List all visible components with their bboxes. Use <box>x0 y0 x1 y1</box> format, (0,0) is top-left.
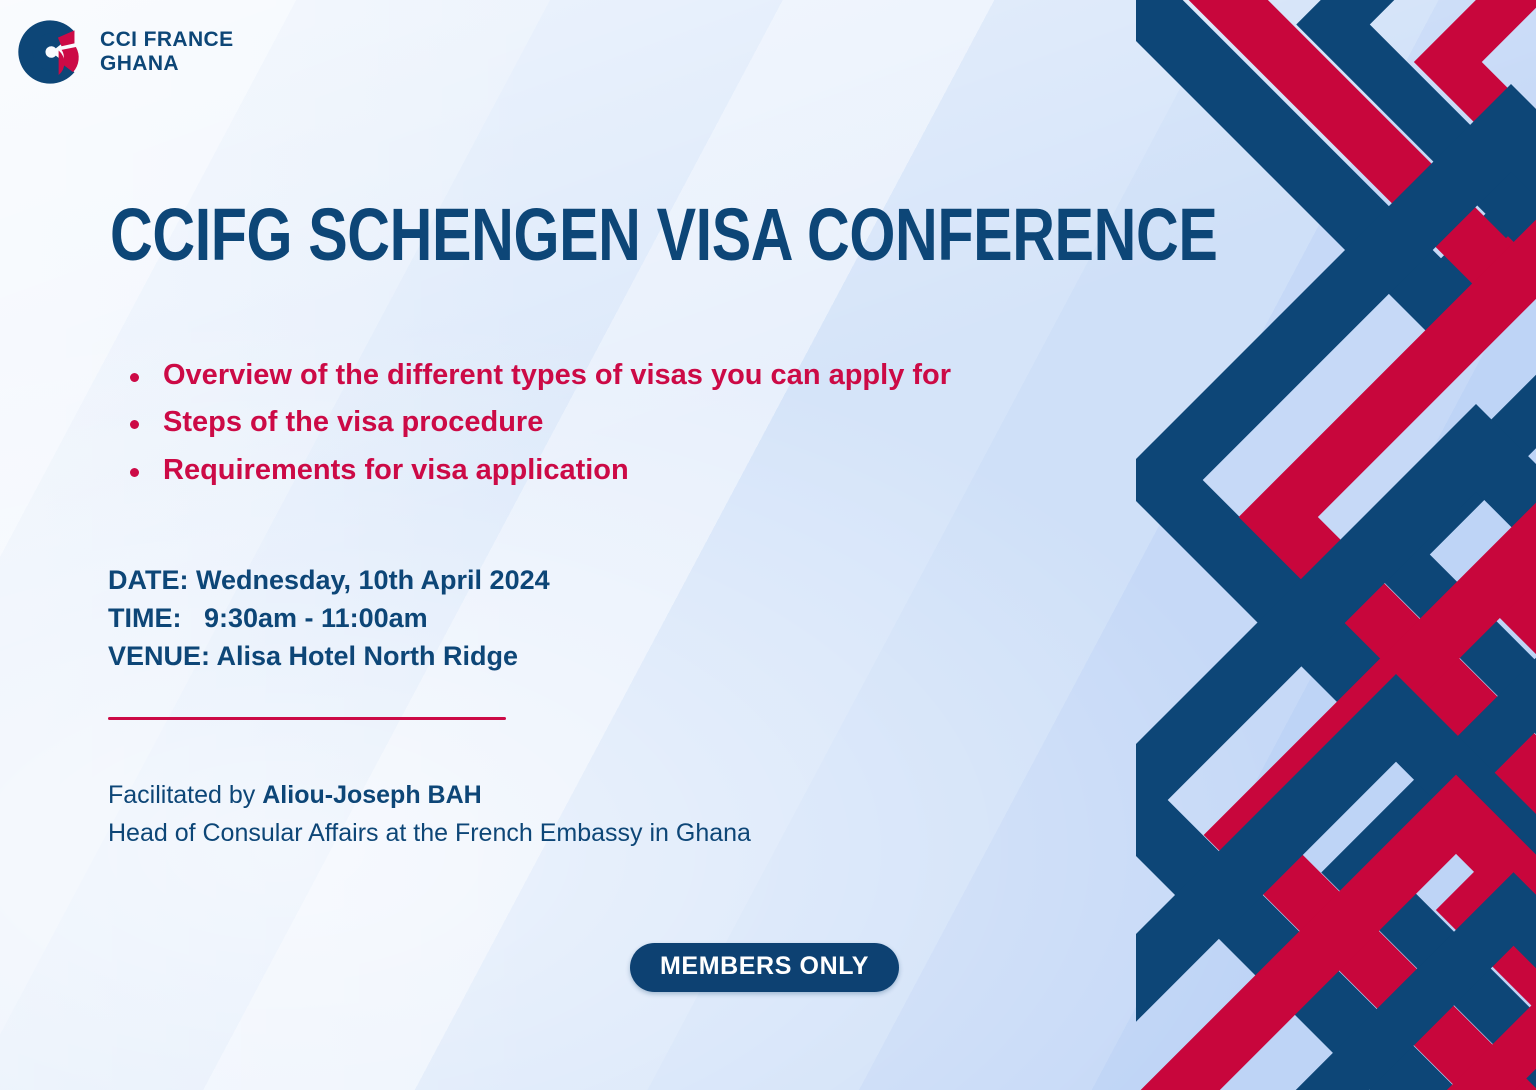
members-only-badge: MEMBERS ONLY <box>630 943 899 992</box>
topic-item: Overview of the different types of visas… <box>118 356 951 394</box>
red-divider-rule <box>108 717 506 720</box>
topic-item: Steps of the visa procedure <box>118 403 951 441</box>
facilitator-block: Facilitated by Aliou-Joseph BAH Head of … <box>108 776 751 852</box>
topics-list: Overview of the different types of visas… <box>118 356 951 498</box>
chevron-pattern <box>1136 0 1536 1090</box>
topic-item: Requirements for visa application <box>118 451 951 489</box>
facilitator-line: Facilitated by Aliou-Joseph BAH <box>108 776 751 814</box>
facilitator-name: Aliou-Joseph BAH <box>262 781 481 809</box>
event-time: TIME: 9:30am - 11:00am <box>108 600 550 638</box>
event-venue: VENUE: Alisa Hotel North Ridge <box>108 638 550 676</box>
page-title: CCIFG SCHENGEN VISA CONFERENCE <box>110 192 1217 277</box>
facilitator-role: Head of Consular Affairs at the French E… <box>108 814 751 852</box>
event-date: DATE: Wednesday, 10th April 2024 <box>108 562 550 600</box>
facilitator-prefix: Facilitated by <box>108 781 262 809</box>
flyer-canvas: CCI FRANCE GHANA CCIFG SCHENGEN VISA CON… <box>0 0 1536 1090</box>
logo-wordmark: CCI FRANCE GHANA <box>100 28 234 75</box>
brand-logo: CCI FRANCE GHANA <box>14 16 234 88</box>
cci-logo-icon <box>14 16 86 88</box>
event-details: DATE: Wednesday, 10th April 2024 TIME: 9… <box>108 562 550 675</box>
